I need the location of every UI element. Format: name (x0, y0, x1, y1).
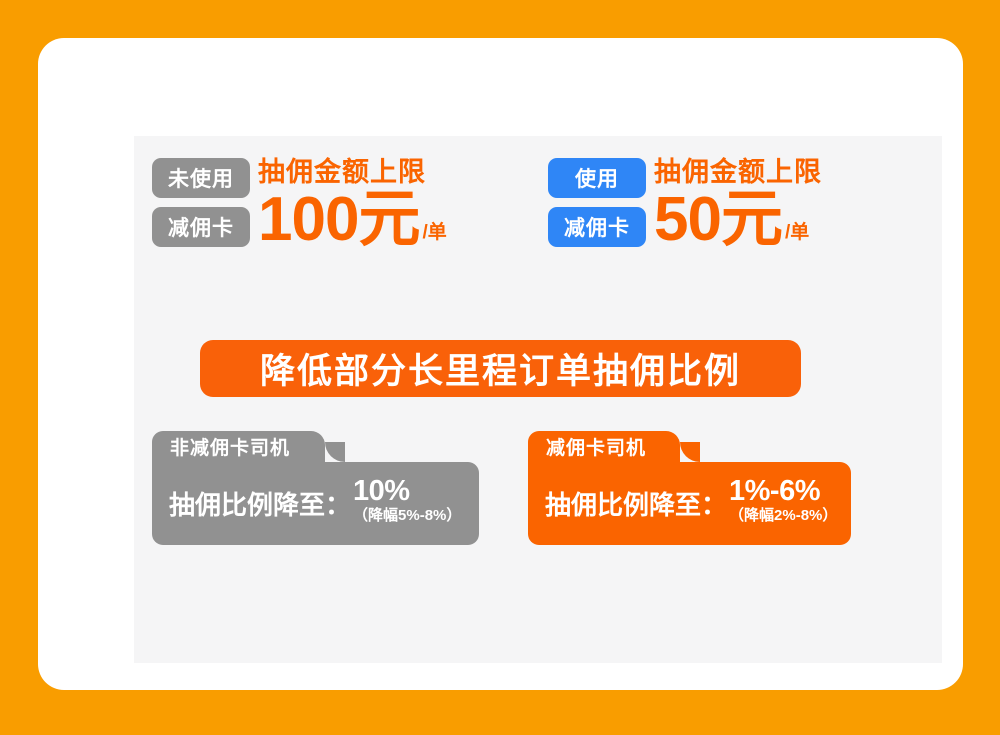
rate-panel-card-driver: 减佣卡司机 抽佣比例降至： 1%-6% （降幅2%-8%） (528, 431, 851, 545)
rate-value-non-card-driver: 10% (353, 476, 410, 506)
rate-panel-non-card-driver: 非减佣卡司机 抽佣比例降至： 10% （降幅5%-8%） (152, 431, 479, 545)
limit-amount-row-used: 50元 /单 (654, 189, 822, 251)
headline-banner-text: 降低部分长里程订单抽佣比例 (260, 343, 741, 394)
limit-amount-used: 50元 (654, 189, 782, 251)
rate-note-non-card-driver: （降幅5%-8%） (353, 507, 461, 525)
limit-text-unused: 抽佣金额上限 100元 /单 (258, 156, 447, 251)
pill-usage-state-used: 使用 (548, 158, 646, 198)
limit-text-used: 抽佣金额上限 50元 /单 (654, 156, 822, 251)
limit-caption-used: 抽佣金额上限 (654, 156, 822, 188)
pill-discount-card-unused: 减佣卡 (152, 207, 250, 247)
headline-banner: 降低部分长里程订单抽佣比例 (200, 340, 801, 397)
rate-panel-tab-non-card-driver: 非减佣卡司机 (152, 431, 325, 462)
rate-label-card-driver: 抽佣比例降至： (545, 485, 727, 522)
rate-note-card-driver: （降幅2%-8%） (729, 507, 837, 525)
limit-amount-row-unused: 100元 /单 (258, 189, 447, 251)
rate-panel-tab-label-non-card-driver: 非减佣卡司机 (170, 433, 290, 460)
limit-unit-used: /单 (785, 217, 809, 244)
limit-caption-unused: 抽佣金额上限 (258, 156, 447, 188)
rate-panel-body-non-card-driver: 抽佣比例降至： 10% （降幅5%-8%） (152, 462, 479, 545)
pill-group-unused: 未使用 减佣卡 (152, 158, 250, 247)
rate-panel-body-card-driver: 抽佣比例降至： 1%-6% （降幅2%-8%） (528, 462, 851, 545)
limit-unit-unused: /单 (422, 217, 446, 244)
pill-discount-card-used: 减佣卡 (548, 207, 646, 247)
limit-amount-unused: 100元 (258, 189, 419, 251)
pill-group-used: 使用 减佣卡 (548, 158, 646, 247)
rate-panel-tab-label-card-driver: 减佣卡司机 (546, 433, 646, 460)
rate-panel-tab-card-driver: 减佣卡司机 (528, 431, 680, 462)
rate-values-card-driver: 1%-6% （降幅2%-8%） (729, 476, 837, 525)
rate-value-card-driver: 1%-6% (729, 476, 820, 506)
pill-usage-state-unused: 未使用 (152, 158, 250, 198)
rate-label-non-card-driver: 抽佣比例降至： (169, 485, 351, 522)
rate-values-non-card-driver: 10% （降幅5%-8%） (353, 476, 461, 525)
